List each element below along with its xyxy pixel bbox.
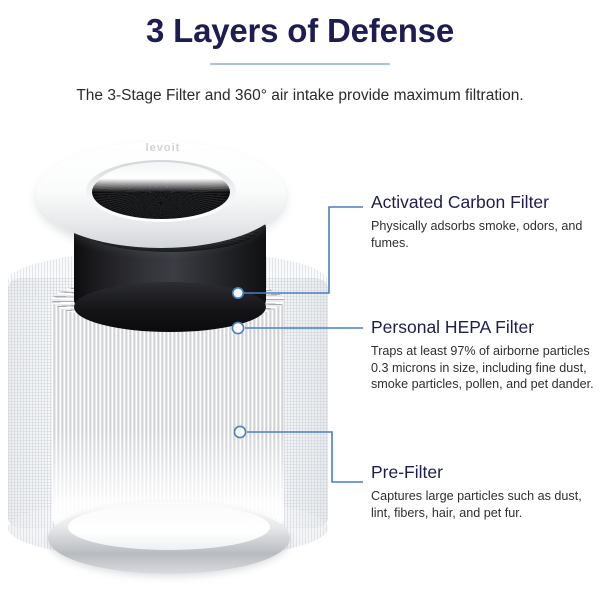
callout-title: Pre-Filter: [371, 461, 599, 483]
base-ring-inner: [68, 504, 270, 550]
callout-pre-filter: Pre-Filter Captures large particles such…: [371, 461, 599, 521]
carbon-filter-bottom: [74, 282, 266, 332]
title-divider: [210, 63, 390, 65]
brand-logo: levoit: [108, 142, 218, 154]
callout-body: Captures large particles such as dust, l…: [371, 488, 599, 521]
callout-body: Traps at least 97% of airborne particles…: [371, 343, 599, 393]
callout-body: Physically adsorbs smoke, odors, and fum…: [371, 218, 599, 251]
infographic-page: 3 Layers of Defense The 3-Stage Filter a…: [0, 0, 600, 600]
callout-activated-carbon-filter: Activated Carbon Filter Physically adsor…: [371, 191, 599, 251]
page-subtitle: The 3-Stage Filter and 360° air intake p…: [0, 84, 600, 108]
product-illustration: levoit: [0, 130, 340, 590]
callout-title: Activated Carbon Filter: [371, 191, 599, 213]
page-title: 3 Layers of Defense: [0, 8, 600, 54]
callout-personal-hepa-filter: Personal HEPA Filter Traps at least 97% …: [371, 316, 599, 393]
callout-title: Personal HEPA Filter: [371, 316, 599, 338]
